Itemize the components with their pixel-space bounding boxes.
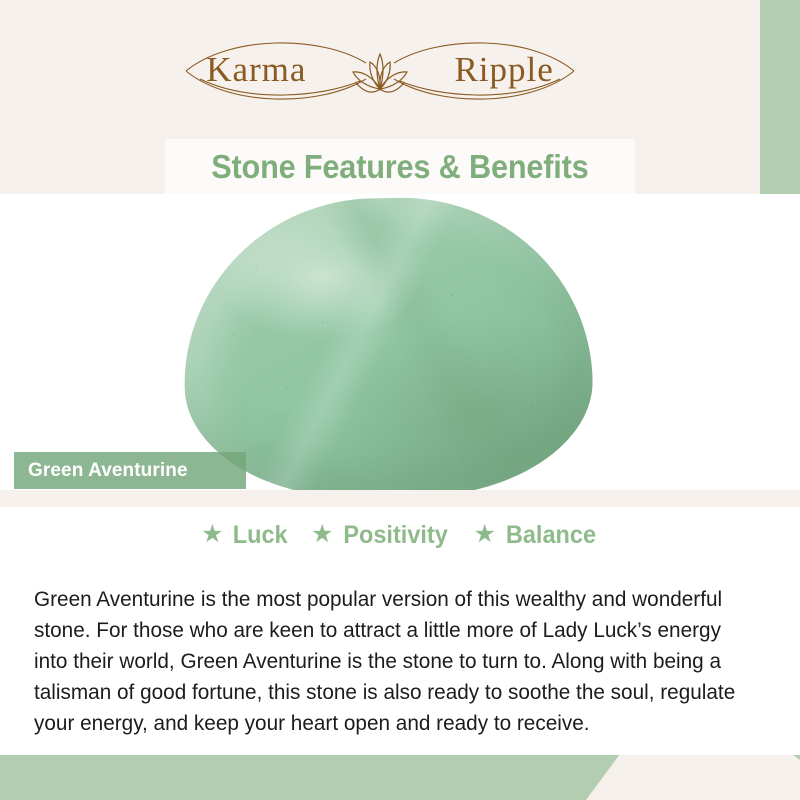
- logo-flourish-icon: [170, 31, 590, 111]
- section-divider: [0, 490, 800, 507]
- star-icon: ★: [311, 522, 333, 547]
- brand-logo: KarmaRipple: [0, 28, 760, 114]
- content-panel: ★ Luck ★ Positivity ★ Balance Green Aven…: [0, 507, 800, 755]
- decorative-frame-bottom: [0, 754, 620, 800]
- green-aventurine-stone: [181, 194, 594, 490]
- stone-description: Green Aventurine is the most popular ver…: [34, 584, 753, 739]
- page-title: Stone Features & Benefits: [211, 148, 588, 186]
- feature-label-luck: Luck: [232, 521, 287, 550]
- product-infographic: KarmaRipple Stone Features & Benefits Gr…: [0, 0, 800, 800]
- feature-label-balance: Balance: [506, 521, 596, 550]
- headline-banner: Stone Features & Benefits: [165, 139, 635, 194]
- star-icon: ★: [474, 522, 496, 547]
- feature-item-positivity: ★ Positivity: [311, 521, 452, 550]
- stone-name-band: Green Aventurine: [14, 452, 246, 489]
- feature-label-positivity: Positivity: [344, 521, 448, 550]
- hero-image: [0, 194, 800, 490]
- star-icon: ★: [201, 522, 223, 547]
- hero-backdrop: [0, 194, 800, 490]
- stone-name-label: Green Aventurine: [14, 460, 188, 482]
- feature-item-balance: ★ Balance: [474, 521, 599, 550]
- feature-item-luck: ★ Luck: [201, 521, 289, 550]
- feature-list: ★ Luck ★ Positivity ★ Balance: [0, 521, 800, 550]
